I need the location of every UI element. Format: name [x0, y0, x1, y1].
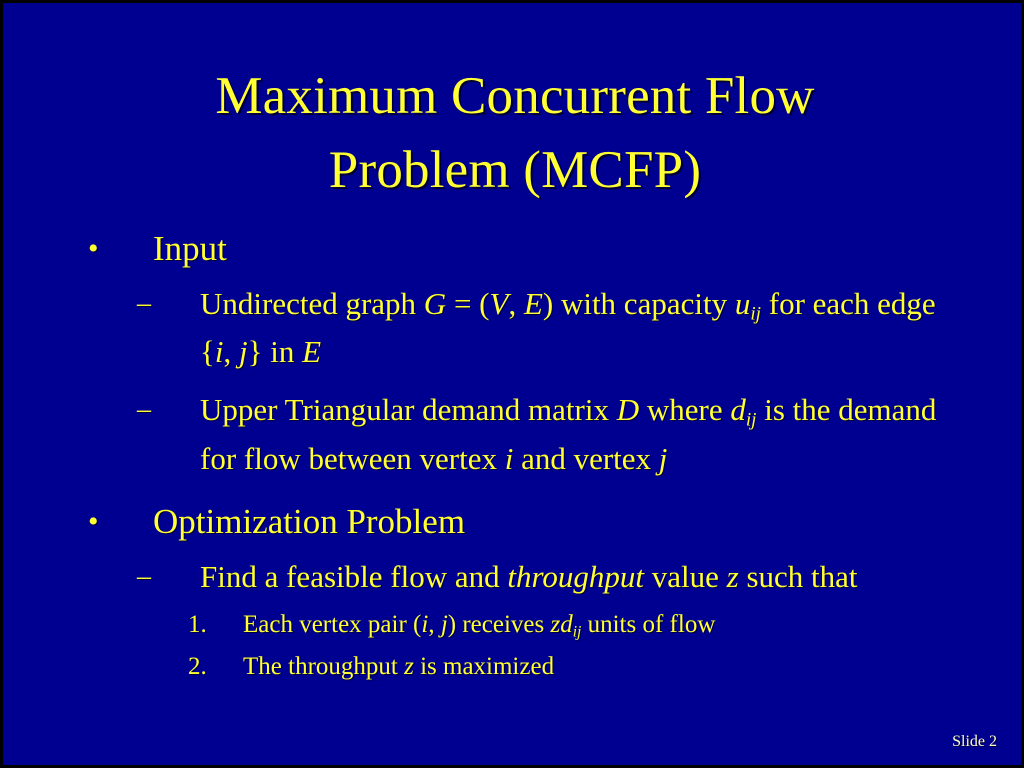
bullet-input: • Input	[3, 227, 1024, 271]
list-number-1: 1.	[188, 608, 207, 641]
spacer	[3, 478, 1024, 498]
math-var-e: E	[524, 286, 543, 321]
text-segment: Undirected graph	[200, 286, 424, 321]
math-var-z: z	[551, 611, 561, 638]
numbered-item-2: 2. The throughput z is maximized	[3, 650, 1024, 683]
text-segment: value	[644, 559, 727, 594]
text-segment: ,	[508, 286, 524, 321]
sub-bullet-find-feasible-flow: – Find a feasible flow and throughput va…	[3, 558, 960, 596]
math-var-g: G	[424, 286, 446, 321]
text-segment: and vertex	[513, 441, 658, 476]
text-segment: ) with capacity	[543, 286, 735, 321]
math-var-i: i	[215, 334, 224, 369]
math-var-v: V	[490, 286, 509, 321]
slide-number-footer: Slide 2	[952, 733, 997, 751]
slide-body: • Input – Undirected graph G = (V, E) wi…	[3, 225, 1024, 683]
presentation-slide: Maximum Concurrent Flow Problem (MCFP) •…	[0, 0, 1024, 768]
text-segment: Each vertex pair (	[243, 611, 421, 638]
math-var-j: j	[659, 441, 668, 476]
text-segment: ,	[224, 334, 240, 369]
sub-bullet-demand-matrix: – Upper Triangular demand matrix D where…	[3, 391, 960, 477]
sub-bullet-demand-matrix-text: Upper Triangular demand matrix D where d…	[200, 392, 936, 475]
spacer	[3, 596, 1024, 606]
emphasis-throughput: throughput	[507, 559, 644, 594]
bullet-optimization-problem-label: Optimization Problem	[153, 502, 465, 541]
bullet-optimization-problem: • Optimization Problem	[3, 500, 1024, 544]
text-segment: = (	[446, 286, 489, 321]
dash-bullet-icon: –	[137, 558, 151, 596]
math-var-d: d	[730, 392, 746, 427]
text-segment: ) receives	[448, 611, 551, 638]
math-var-z: z	[404, 653, 414, 680]
text-segment: where	[639, 392, 730, 427]
sub-bullet-undirected-graph-text: Undirected graph G = (V, E) with capacit…	[200, 286, 936, 369]
text-segment: such that	[739, 559, 858, 594]
text-segment: ,	[428, 611, 441, 638]
text-segment: The throughput	[243, 653, 404, 680]
math-var-u: u	[735, 286, 751, 321]
dash-bullet-icon: –	[137, 391, 151, 429]
math-var-e2: E	[302, 334, 321, 369]
sub-bullet-undirected-graph: – Undirected graph G = (V, E) with capac…	[3, 285, 960, 371]
math-subscript-ij: ij	[750, 303, 761, 324]
sub-bullet-find-feasible-flow-text: Find a feasible flow and throughput valu…	[200, 559, 858, 594]
bullet-dot-icon: •	[88, 227, 99, 271]
text-segment: } in	[248, 334, 303, 369]
text-segment: is maximized	[414, 653, 554, 680]
text-segment: Upper Triangular demand matrix	[200, 392, 617, 427]
numbered-item-1: 1. Each vertex pair (i, j) receives zdij…	[3, 608, 1024, 648]
bullet-dot-icon: •	[88, 500, 99, 544]
slide-title: Maximum Concurrent Flow Problem (MCFP)	[3, 59, 1024, 207]
slide-title-line-2: Problem (MCFP)	[3, 133, 1024, 207]
math-var-d: d	[560, 611, 573, 638]
math-subscript-ij: ij	[746, 410, 757, 431]
text-segment: Find a feasible flow and	[200, 559, 507, 594]
text-segment: units of flow	[581, 611, 715, 638]
math-var-z: z	[727, 559, 739, 594]
math-var-j: j	[441, 611, 448, 638]
dash-bullet-icon: –	[137, 285, 151, 323]
spacer	[3, 371, 1024, 387]
bullet-input-label: Input	[153, 229, 227, 268]
math-var-D: D	[617, 392, 639, 427]
spacer	[3, 271, 1024, 281]
list-number-2: 2.	[188, 650, 207, 683]
slide-title-line-1: Maximum Concurrent Flow	[3, 59, 1024, 133]
spacer	[3, 544, 1024, 554]
numbered-item-2-text: The throughput z is maximized	[243, 653, 554, 680]
numbered-item-1-text: Each vertex pair (i, j) receives zdij un…	[243, 611, 715, 638]
math-var-j: j	[239, 334, 248, 369]
